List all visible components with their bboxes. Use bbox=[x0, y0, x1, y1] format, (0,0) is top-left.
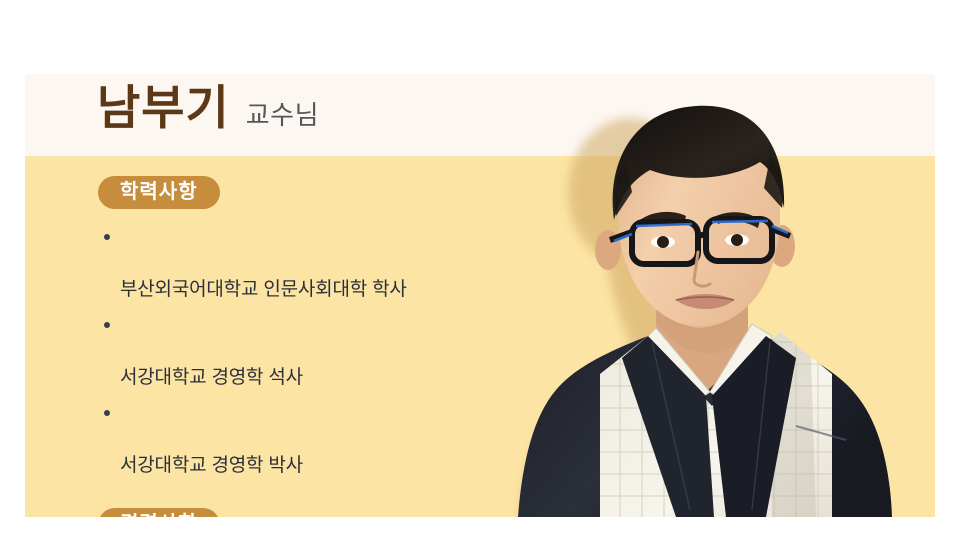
profile-banner: 남부기 교수님 학력사항 부산외국어대학교 인문사회대학 학사 서강대학교 경영… bbox=[0, 0, 960, 540]
list-item-label: 부산외국어대학교 인문사회대학 학사 bbox=[120, 279, 407, 300]
bullet-icon bbox=[104, 410, 110, 416]
profile-name-row: 남부기 교수님 bbox=[97, 84, 319, 131]
education-list: 부산외국어대학교 인문사회대학 학사 서강대학교 경영학 석사 서강대학교 경영… bbox=[98, 223, 498, 480]
list-item-label: 서강대학교 경영학 박사 bbox=[120, 455, 303, 476]
section-career: 경력사항 서울산업통상진흥원 서울지역 창업보육센터 솔루션 위원 숙명여자대학… bbox=[98, 508, 498, 517]
list-item-label: 서강대학교 경영학 석사 bbox=[120, 367, 303, 388]
title-suffix: 교수님 bbox=[246, 102, 319, 128]
badge-career: 경력사항 bbox=[98, 508, 220, 517]
profile-card: 남부기 교수님 학력사항 부산외국어대학교 인문사회대학 학사 서강대학교 경영… bbox=[25, 74, 935, 517]
bullet-icon bbox=[104, 322, 110, 328]
profile-details: 학력사항 부산외국어대학교 인문사회대학 학사 서강대학교 경영학 석사 서강대… bbox=[98, 176, 498, 517]
bullet-icon bbox=[104, 234, 110, 240]
list-item: 서강대학교 경영학 석사 bbox=[98, 311, 498, 392]
badge-education: 학력사항 bbox=[98, 176, 220, 209]
page-title: 남부기 bbox=[97, 84, 230, 131]
section-education: 학력사항 부산외국어대학교 인문사회대학 학사 서강대학교 경영학 석사 서강대… bbox=[98, 176, 498, 480]
list-item: 서강대학교 경영학 박사 bbox=[98, 399, 498, 480]
list-item: 부산외국어대학교 인문사회대학 학사 bbox=[98, 223, 498, 304]
